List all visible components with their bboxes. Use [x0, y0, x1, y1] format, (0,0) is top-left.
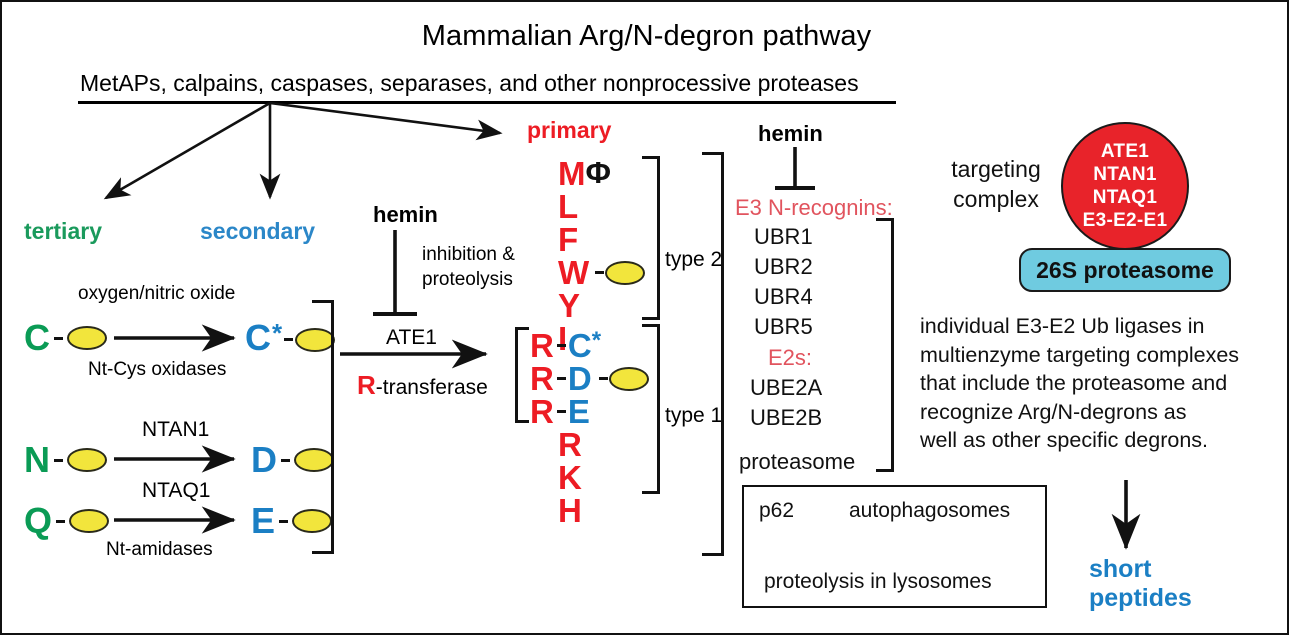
bond-dash — [595, 271, 604, 274]
bond-dash — [281, 459, 290, 462]
residue-row-RD: R D — [530, 362, 649, 395]
secondary-group-bracket — [312, 300, 334, 554]
residue-H: H — [558, 492, 582, 529]
description-line-4: recognize Arg/N-degrons as — [920, 398, 1280, 427]
recognin-item-ubr5: UBR5 — [754, 314, 813, 340]
residue-R: R — [558, 426, 582, 463]
r-transferase-r: R — [357, 370, 376, 400]
short-peptides-line2: peptides — [1089, 584, 1192, 613]
residue-C-blue: C — [245, 320, 271, 356]
residue-D-type1: D — [568, 362, 592, 395]
targeting-complex-line1: targeting — [936, 154, 1056, 184]
residue-row-R: R — [558, 428, 649, 461]
residue-D-blue: D — [251, 442, 277, 478]
substrate-oval — [69, 509, 109, 533]
recognin-item-ubr2: UBR2 — [754, 254, 813, 280]
diagram-canvas: Mammalian Arg/N-degron pathway MetAPs, c… — [0, 0, 1289, 635]
nt-amidases-label: Nt-amidases — [106, 539, 213, 561]
short-peptides-label: short peptides — [1089, 555, 1192, 613]
residue-row-RE: R E — [530, 395, 649, 428]
residue-column-type1: R C * R D R E R K H — [530, 329, 649, 527]
bond-dash — [54, 337, 63, 340]
proteasome-26s-pill: 26S proteasome — [1019, 248, 1231, 292]
branch-label-tertiary: tertiary — [24, 218, 102, 245]
residue-R-arg: R — [530, 395, 554, 428]
inhibition-line2: proteolysis — [422, 269, 513, 291]
branch-label-secondary: secondary — [200, 218, 315, 245]
residue-C-star: * — [272, 320, 282, 346]
residue-row-K: K — [558, 461, 649, 494]
substrate-oval — [67, 448, 107, 472]
residue-Q-green: Q — [24, 503, 52, 539]
recognin-item-ube2a: UBE2A — [750, 375, 822, 401]
description-line-3: that include the proteasome and — [920, 369, 1280, 398]
residue-phi-symbol: Φ — [586, 157, 611, 188]
hemin-right-label: hemin — [758, 121, 823, 147]
residue-row-H: H — [558, 494, 649, 527]
targeting-complex-circle: ATE1 NTAN1 NTAQ1 E3-E2-E1 — [1061, 122, 1189, 250]
bond-dash — [557, 410, 566, 413]
circle-label-e3e2e1: E3-E2-E1 — [1083, 209, 1168, 232]
recognin-item-proteasome: proteasome — [739, 449, 855, 475]
r-transferase-label: R-transferase — [357, 370, 488, 401]
autophagosomes-label: autophagosomes — [849, 499, 1010, 523]
description-line-5: well as other specific degrons. — [920, 426, 1280, 455]
residue-R-arg: R — [530, 329, 554, 362]
residue-K: K — [558, 459, 582, 496]
e2s-heading: E2s: — [768, 345, 812, 371]
arginylation-bracket — [515, 327, 529, 423]
lysosomes-label: proteolysis in lysosomes — [764, 570, 992, 594]
inhibition-line1: inhibition & — [422, 244, 515, 266]
residue-C-green: C — [24, 320, 50, 356]
degron-group-bracket — [702, 152, 724, 556]
residue-M: M — [558, 157, 586, 190]
residue-E-blue: E — [251, 503, 275, 539]
bond-dash — [54, 459, 63, 462]
oxygen-nitric-oxide-label: oxygen/nitric oxide — [78, 283, 235, 305]
bond-dash — [557, 344, 566, 347]
row-cys-substrate: C — [24, 320, 107, 356]
residue-L: L — [558, 188, 578, 225]
circle-label-ate1: ATE1 — [1101, 140, 1149, 163]
ate1-label: ATE1 — [386, 326, 437, 350]
enzyme-ntaq1-label: NTAQ1 — [142, 479, 210, 503]
e3-recognins-heading: E3 N-recognins: — [735, 195, 893, 221]
short-peptides-line1: short — [1089, 555, 1192, 584]
circle-label-ntan1: NTAN1 — [1093, 163, 1156, 186]
residue-row-M: M Φ — [558, 157, 645, 190]
description-line-1: individual E3-E2 Ub ligases in — [920, 312, 1280, 341]
row-gln-substrate: Q — [24, 503, 109, 539]
residue-column-type2: M Φ L F W Y I — [558, 157, 645, 355]
residue-row-RC: R C * — [530, 329, 649, 362]
r-transferase-rest: -transferase — [376, 376, 488, 399]
p62-label: p62 — [759, 499, 794, 523]
recognin-item-ubr4: UBR4 — [754, 284, 813, 310]
nt-cys-oxidases-label: Nt-Cys oxidases — [88, 359, 226, 381]
bond-dash — [279, 520, 288, 523]
residue-row-F: F — [558, 223, 645, 256]
targeting-complex-line2: complex — [936, 184, 1056, 214]
bond-dash — [284, 338, 293, 341]
substrate-oval — [67, 326, 107, 350]
bond-dash — [56, 520, 65, 523]
circle-label-ntaq1: NTAQ1 — [1093, 186, 1157, 209]
residue-C-star: * — [592, 329, 601, 353]
bond-dash — [557, 377, 566, 380]
residue-E-type1: E — [568, 395, 590, 428]
residue-N-green: N — [24, 442, 50, 478]
residue-F: F — [558, 221, 578, 258]
recognin-item-ubr1: UBR1 — [754, 224, 813, 250]
targeting-complex-label: targeting complex — [936, 154, 1056, 214]
recognin-list-bracket — [876, 218, 894, 472]
enzyme-ntan1-label: NTAN1 — [142, 418, 209, 442]
residue-row-L: L — [558, 190, 645, 223]
residue-C-type1: C — [568, 329, 592, 362]
residue-Y: Y — [558, 287, 580, 324]
type1-bracket — [642, 324, 660, 494]
substrate-oval — [605, 261, 645, 285]
type2-bracket — [642, 156, 660, 320]
residue-row-Y: Y — [558, 289, 645, 322]
description-line-2: multienzyme targeting complexes — [920, 341, 1280, 370]
residue-row-W: W — [558, 256, 645, 289]
branch-label-primary: primary — [527, 117, 611, 144]
bond-dash — [599, 377, 608, 380]
description-paragraph: individual E3-E2 Ub ligases in multienzy… — [920, 312, 1280, 455]
row-asn-substrate: N — [24, 442, 107, 478]
hemin-left-label: hemin — [373, 202, 438, 228]
residue-R-arg: R — [530, 362, 554, 395]
recognin-item-ube2b: UBE2B — [750, 405, 822, 431]
residue-W: W — [558, 256, 589, 289]
